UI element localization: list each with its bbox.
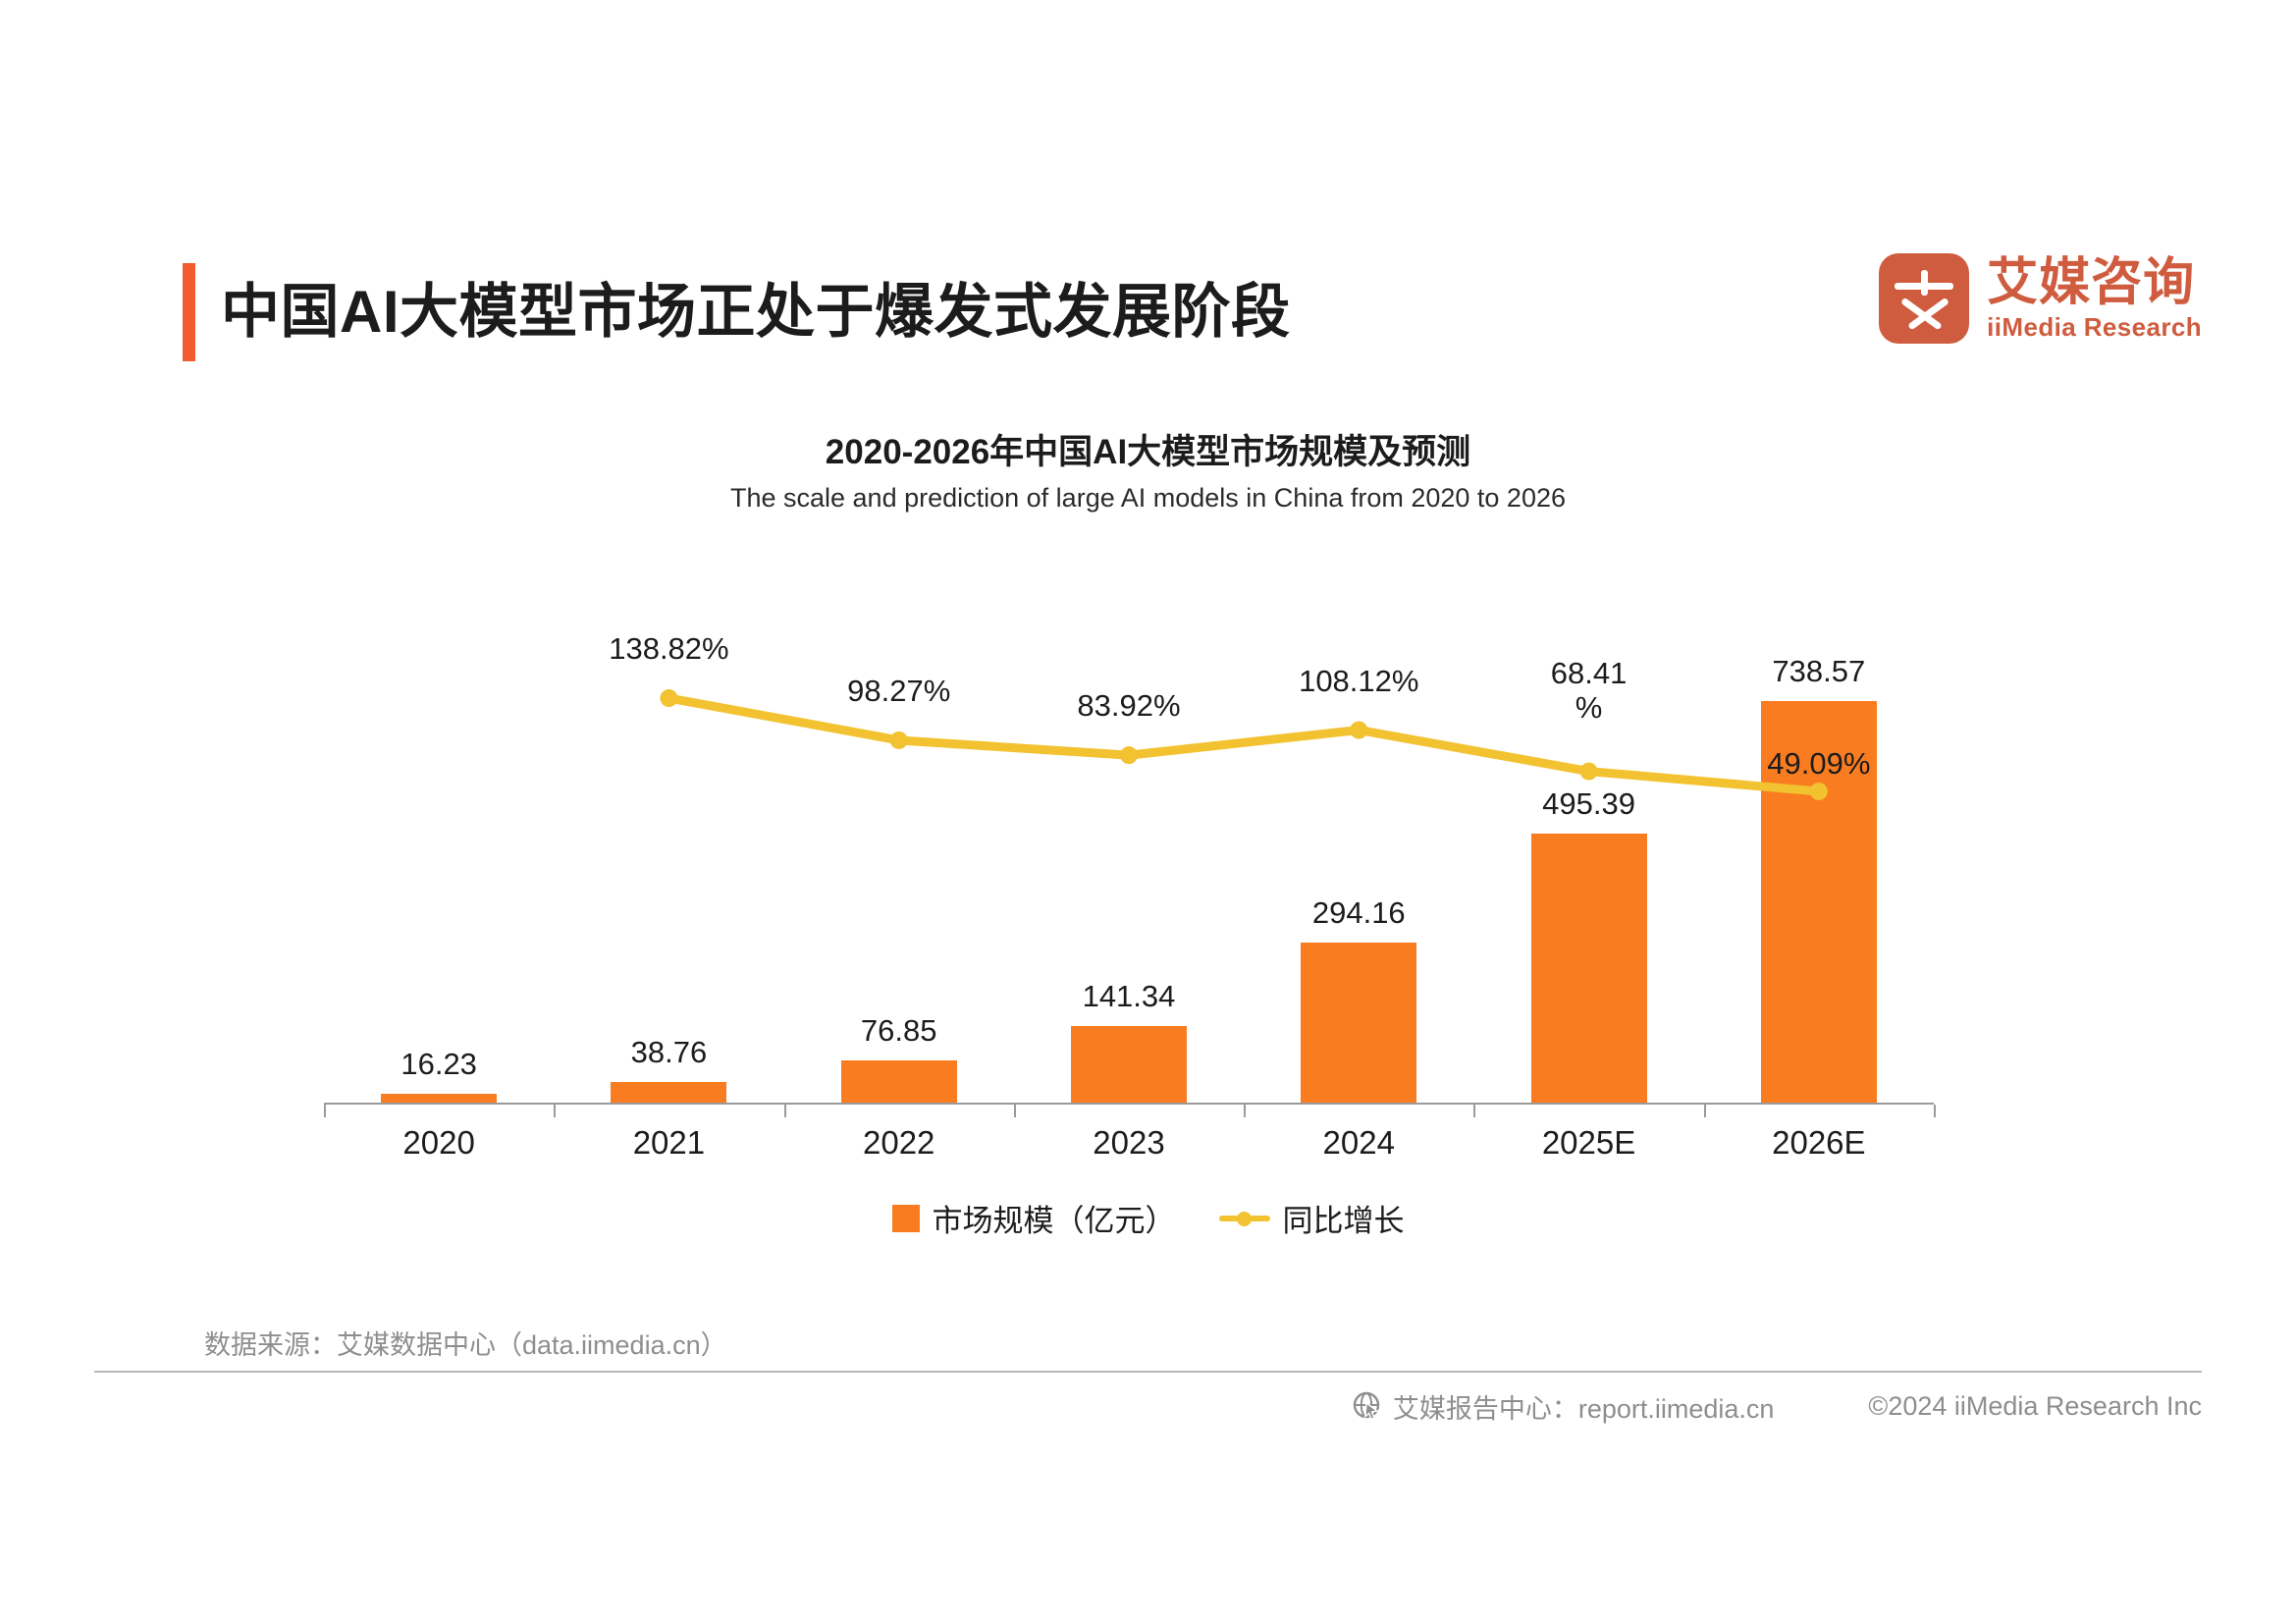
report-center-text: 艾媒报告中心：report.iimedia.cn [1393,1387,1775,1426]
growth-value-label-2021: 138.82% [521,631,816,667]
report-center-link[interactable]: 艾媒报告中心：report.iimedia.cn [1352,1387,1775,1426]
footer-divider [94,1371,2202,1373]
copyright-text: ©2024 iiMedia Research Inc [1868,1391,2202,1422]
logo-name-en: iiMedia Research [1987,314,2202,340]
chart-title: 2020-2026年中国AI大模型市场规模及预测 [0,424,2296,474]
logo-stroke-vertical [1921,270,1928,296]
growth-value-label-2022: 98.27% [772,674,1027,709]
chart-plot-area: 138.82%98.27%83.92%108.12%68.41%49.09% 1… [324,589,1934,1105]
legend-bar-swatch-icon [892,1205,920,1232]
growth-value-label-2026E: 49.09% [1672,746,1966,782]
line-point-2024[interactable] [1350,722,1367,739]
page-title: 中国AI大模型市场正处于爆发式发展阶段 [221,283,1291,342]
line-point-2025E[interactable] [1580,763,1598,781]
legend-item-bar[interactable]: 市场规模（亿元） [892,1196,1176,1240]
logo-name-cn: 艾媒咨询 [1987,257,2202,308]
x-axis-tick [1244,1105,1246,1117]
chart-subtitle: The scale and prediction of large AI mod… [0,483,2296,514]
legend-bar-label: 市场规模（亿元） [933,1196,1176,1240]
x-axis-label-2025E: 2025E [1473,1124,1703,1162]
x-axis-tick [1934,1105,1936,1117]
bar-value-label-2024: 294.16 [1251,895,1467,931]
header: 中国AI大模型市场正处于爆发式发展阶段 [183,263,1291,361]
x-axis-tick [1473,1105,1475,1117]
x-axis-label-2026E: 2026E [1704,1124,1934,1162]
legend-item-line[interactable]: 同比增长 [1219,1196,1405,1240]
logo-text: 艾媒咨询 iiMedia Research [1987,257,2202,340]
title-accent-bar [183,263,195,361]
x-axis-label-2022: 2022 [784,1124,1014,1162]
x-axis-tick [784,1105,786,1117]
x-axis-label-2023: 2023 [1014,1124,1244,1162]
bar-value-label-2022: 76.85 [791,1013,1007,1049]
x-axis-label-2021: 2021 [554,1124,783,1162]
x-axis-tick [1014,1105,1016,1117]
x-axis-labels: 202020212022202320242025E2026E [324,1124,1934,1162]
bar-2025E[interactable] [1531,834,1647,1103]
x-axis-tick [554,1105,556,1117]
brand-logo: 艾媒咨询 iiMedia Research [1879,253,2202,344]
bar-value-label-2020: 16.23 [331,1047,547,1082]
footer: 艾媒报告中心：report.iimedia.cn ©2024 iiMedia R… [94,1375,2202,1437]
iimedia-logo-icon [1879,253,1969,344]
legend-line-swatch-icon [1219,1205,1270,1232]
line-point-2023[interactable] [1120,746,1138,764]
bar-value-label-2023: 141.34 [1021,979,1237,1014]
bar-2022[interactable] [841,1060,957,1103]
x-axis-line [324,1103,1934,1105]
growth-value-label-2024: 108.12% [1211,664,1506,699]
bar-2023[interactable] [1071,1026,1187,1103]
bar-value-label-2025E: 495.39 [1481,786,1697,822]
bar-2020[interactable] [381,1094,497,1103]
line-point-2022[interactable] [890,731,908,749]
legend-line-label: 同比增长 [1283,1196,1405,1240]
bar-value-label-2026E: 738.57 [1711,654,1927,689]
chart-legend: 市场规模（亿元） 同比增长 [0,1196,2296,1240]
x-axis-tick [324,1105,326,1117]
globe-cursor-icon [1352,1390,1383,1422]
x-axis-label-2024: 2024 [1244,1124,1473,1162]
x-axis-tick [1704,1105,1706,1117]
bar-2024[interactable] [1301,943,1416,1103]
growth-value-label-2025E: 68.41% [1525,656,1653,726]
slide-canvas: 中国AI大模型市场正处于爆发式发展阶段 艾媒咨询 iiMedia Researc… [0,0,2296,1624]
line-point-2021[interactable] [660,689,677,707]
x-axis-label-2020: 2020 [324,1124,554,1162]
bar-value-label-2021: 38.76 [561,1035,776,1070]
data-source-note: 数据来源：艾媒数据中心（data.iimedia.cn） [204,1324,727,1362]
bar-2021[interactable] [611,1082,726,1103]
logo-stroke-diagonal-right [1907,298,1949,331]
